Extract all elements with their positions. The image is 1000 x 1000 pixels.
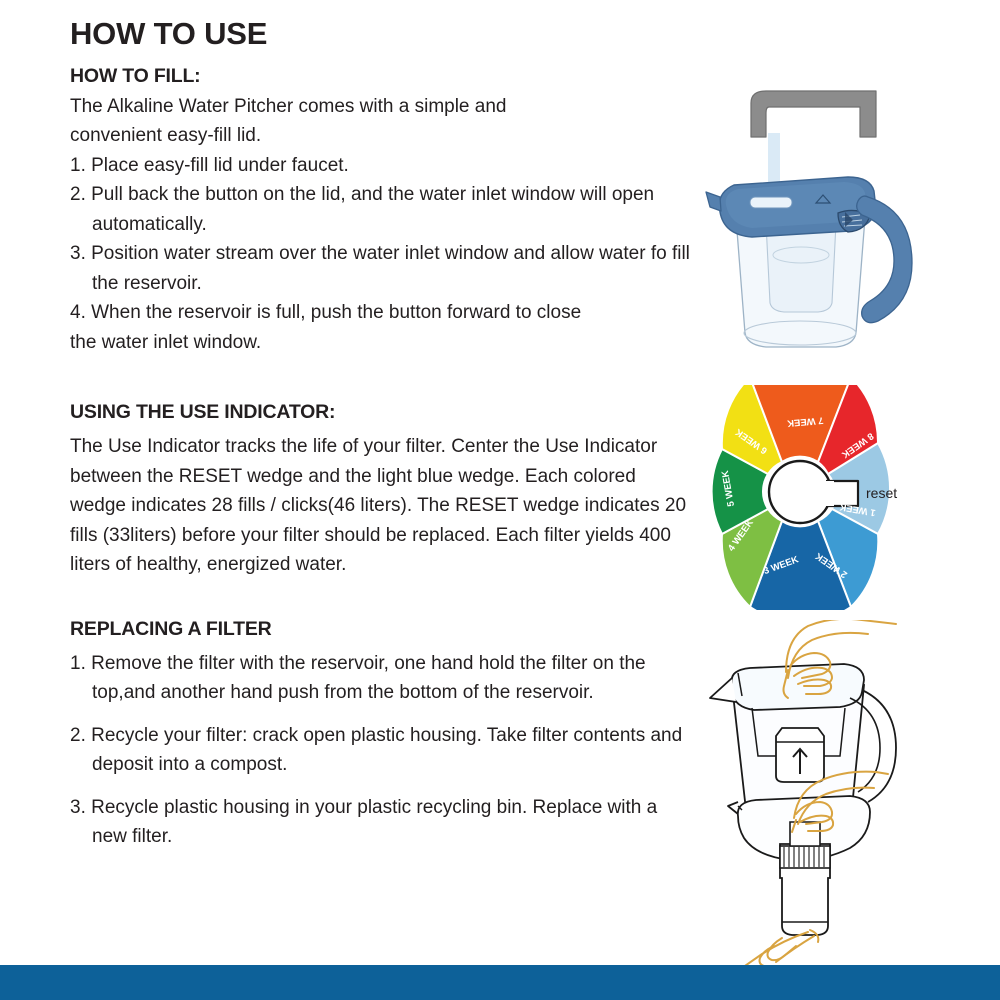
replacing-filter-step-1: 1. Remove the filter with the reservoir,… [70,649,695,708]
section-heading-use-indicator: USING THE USE INDICATOR: [70,401,695,424]
page-title: HOW TO USE [70,18,695,51]
pitcher-under-faucet-illustration [690,85,980,355]
use-indicator-wheel[interactable]: 1 WEEK 2 WEEK 3 WEEK 4 WEEK 5 WEEK 6 WEE… [690,385,980,610]
how-to-fill-intro-line-1: The Alkaline Water Pitcher comes with a … [70,92,695,122]
how-to-fill-step-1: 1. Place easy-fill lid under faucet. [70,151,695,181]
section-replacing-a-filter: REPLACING A FILTER 1. Remove the filter … [70,618,695,852]
how-to-fill-step-2: 2. Pull back the button on the lid, and … [70,180,695,239]
filter-replacement-illustration [690,620,980,965]
replacing-filter-step-3: 3. Recycle plastic housing in your plast… [70,793,695,852]
replacing-filter-step-2: 2. Recycle your filter: crack open plast… [70,721,695,780]
instruction-page: HOW TO USE HOW TO FILL: The Alkaline Wat… [0,0,1000,1000]
how-to-fill-step-4-continuation: the water inlet window. [70,328,695,358]
section-how-to-fill: HOW TO FILL: The Alkaline Water Pitcher … [70,65,695,358]
bottom-accent-bar [0,965,1000,1000]
how-to-fill-step-3: 3. Position water stream over the water … [70,239,695,298]
how-to-fill-step-4: 4. When the reservoir is full, push the … [70,298,695,328]
wheel-center-hub [769,461,831,523]
section-using-the-use-indicator: USING THE USE INDICATOR: The Use Indicat… [70,401,695,580]
instructions-text-column: HOW TO USE HOW TO FILL: The Alkaline Wat… [70,18,695,852]
use-indicator-body: The Use Indicator tracks the life of you… [70,432,695,580]
section-heading-how-to-fill: HOW TO FILL: [70,65,695,88]
section-heading-replacing-a-filter: REPLACING A FILTER [70,618,695,641]
wheel-reset-label: reset [866,485,897,501]
how-to-fill-intro-line-2: convenient easy-fill lid. [70,121,695,151]
filter-removal-drawing [728,796,870,935]
